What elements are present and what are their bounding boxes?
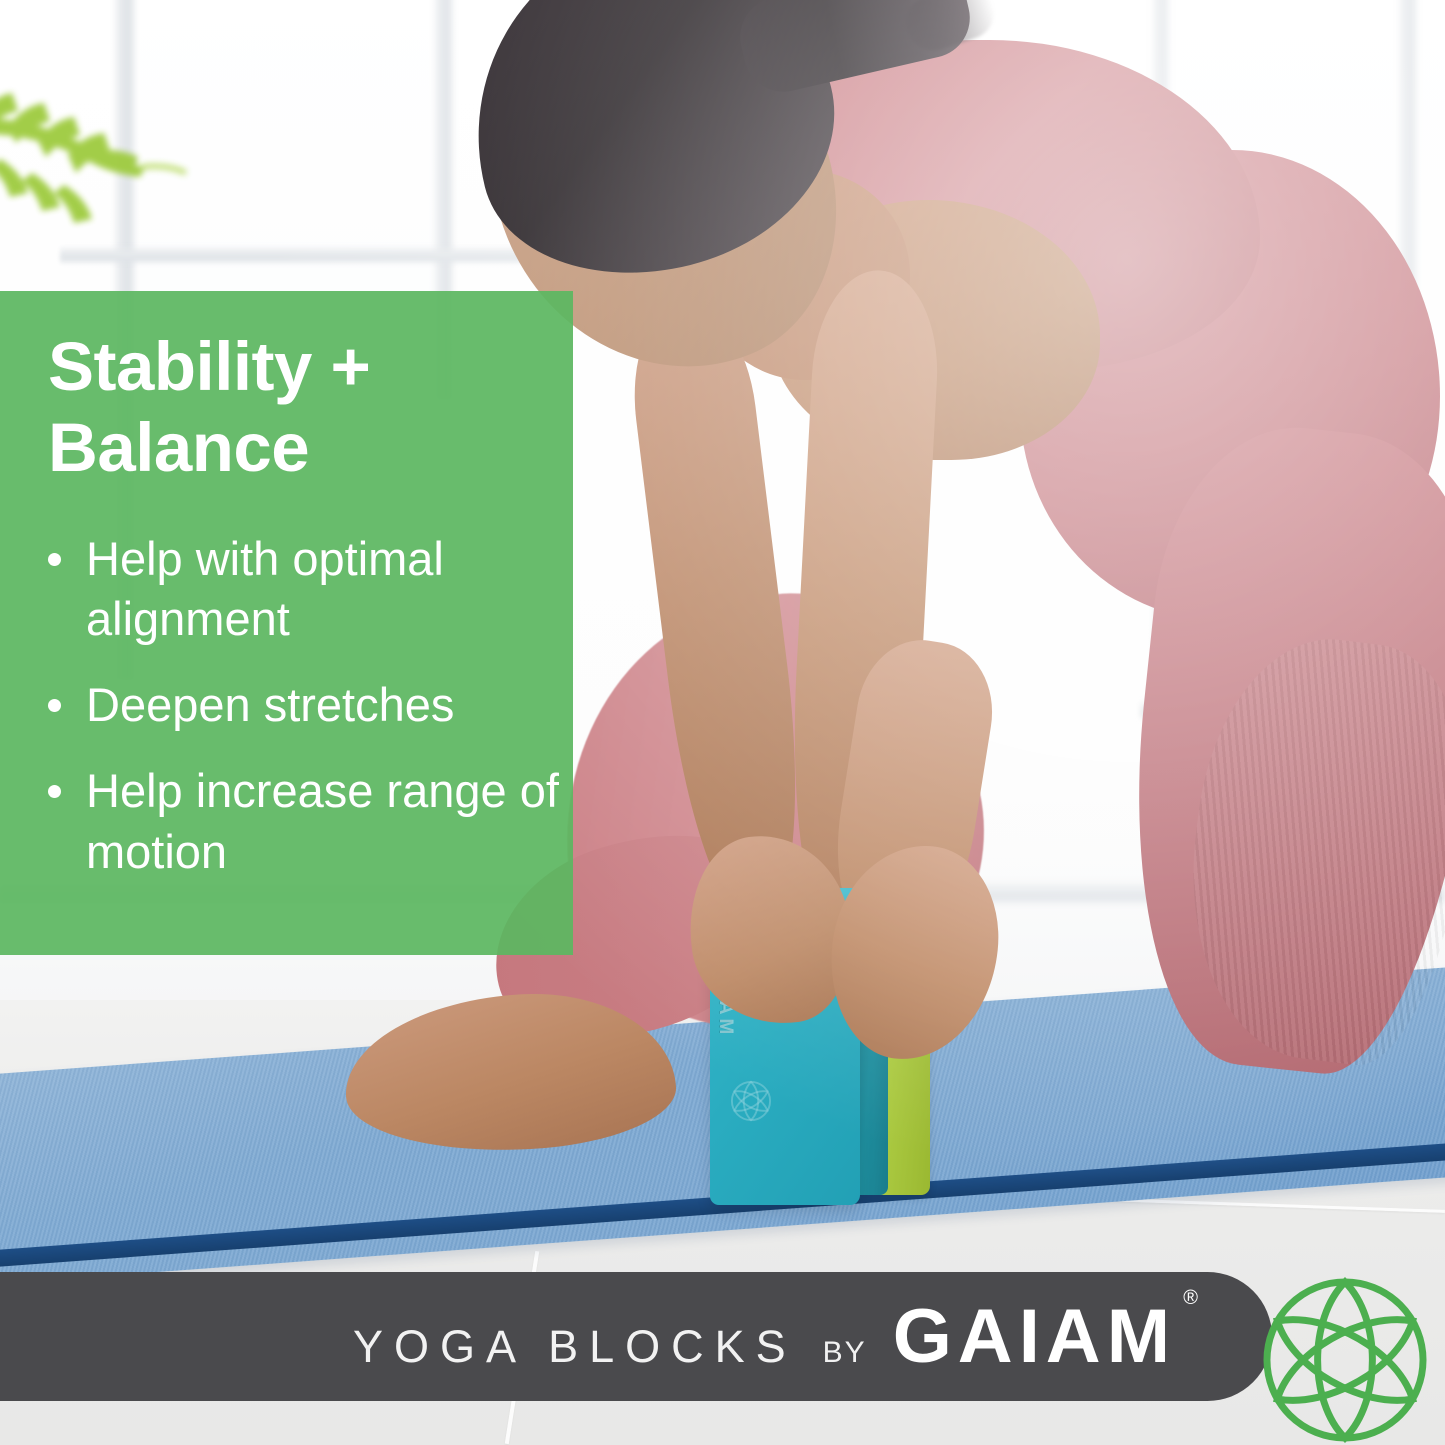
brand-wordmark-text: GAIAM [893, 1294, 1176, 1379]
product-marketing-image: GAIAM Stability + Balance Help with opti… [0, 0, 1445, 1445]
block-emboss-flower-icon [730, 1080, 772, 1122]
panel-heading-line-1: Stability + [48, 327, 548, 408]
benefits-panel: Stability + Balance Help with optimal al… [0, 291, 573, 955]
banner-product-label: YOGA BLOCKS [353, 1321, 797, 1373]
list-item-label: Help with optimal alignment [86, 532, 444, 645]
banner-by-label: BY [823, 1336, 867, 1370]
brand-banner-content: YOGA BLOCKS BY GAIAM ® [353, 1293, 1176, 1380]
panel-heading-line-2: Balance [48, 408, 548, 489]
brand-wordmark: GAIAM ® [893, 1293, 1176, 1380]
fern-leaf-icon [0, 55, 210, 270]
list-item: Deepen stretches [44, 675, 564, 735]
bullet-dot-icon [48, 785, 61, 798]
brand-banner: YOGA BLOCKS BY GAIAM ® [0, 1272, 1272, 1401]
benefits-list: Help with optimal alignment Deepen stret… [44, 529, 564, 908]
list-item: Help increase range of motion [44, 761, 564, 881]
list-item-label: Deepen stretches [86, 678, 454, 731]
bullet-dot-icon [48, 699, 61, 712]
panel-heading: Stability + Balance [48, 327, 548, 488]
bullet-dot-icon [48, 553, 61, 566]
gaiam-flower-logo-icon [1262, 1277, 1428, 1443]
list-item-label: Help increase range of motion [86, 764, 559, 877]
registered-trademark-icon: ® [1183, 1287, 1198, 1310]
list-item: Help with optimal alignment [44, 529, 564, 649]
